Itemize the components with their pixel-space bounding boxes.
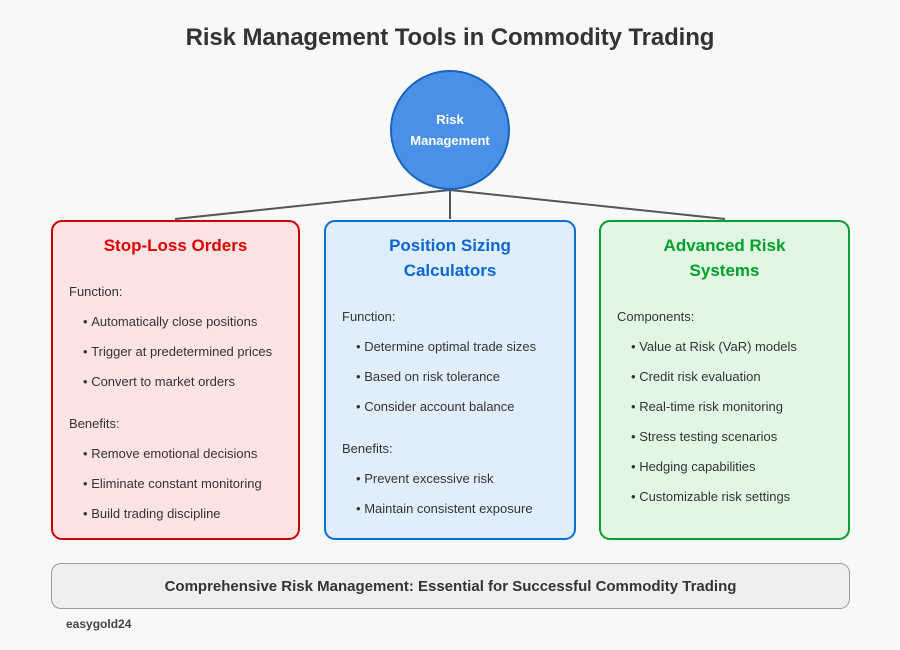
list-item-label: Determine optimal trade sizes (364, 339, 536, 354)
list-item-label: Real-time risk monitoring (639, 399, 783, 414)
card-title-line: Calculators (320, 258, 580, 283)
list-item-label: Remove emotional decisions (91, 446, 257, 461)
section-label-benefits: Benefits: (342, 434, 602, 464)
bullet-glyph: • (83, 446, 88, 461)
bullet-glyph: • (631, 489, 636, 504)
hub-label-line2: Management (410, 130, 489, 151)
bullet-glyph: • (631, 459, 636, 474)
list-item: • Maintain consistent exposure (342, 494, 602, 524)
list-item-label: Build trading discipline (91, 506, 220, 521)
bullet-glyph: • (356, 399, 361, 414)
bullet-glyph: • (631, 369, 636, 384)
bullet-glyph: • (356, 339, 361, 354)
card-title-position-sizing: Position Sizing Calculators (320, 233, 580, 283)
list-item-label: Automatically close positions (91, 314, 257, 329)
card-body-advanced-risk: Components: • Value at Risk (VaR) models… (617, 302, 877, 512)
list-item: • Remove emotional decisions (69, 439, 329, 469)
page-title: Risk Management Tools in Commodity Tradi… (0, 24, 900, 52)
list-item-label: Maintain consistent exposure (364, 501, 532, 516)
bullet-glyph: • (83, 476, 88, 491)
bullet-glyph: • (631, 339, 636, 354)
list-item: • Value at Risk (VaR) models (617, 332, 877, 362)
list-item-label: Prevent excessive risk (364, 471, 493, 486)
list-item-label: Trigger at predetermined prices (91, 344, 272, 359)
bullet-glyph: • (83, 344, 88, 359)
list-item-label: Credit risk evaluation (639, 369, 760, 384)
bullet-glyph: • (356, 369, 361, 384)
list-item: • Determine optimal trade sizes (342, 332, 602, 362)
watermark-easygold24: easygold24 (66, 617, 131, 631)
section-label-benefits: Benefits: (69, 409, 329, 439)
list-item: • Stress testing scenarios (617, 422, 877, 452)
bullet-glyph: • (83, 506, 88, 521)
connector-line-right (450, 190, 725, 219)
list-item: • Trigger at predetermined prices (69, 337, 329, 367)
hub-label-line1: Risk (436, 109, 463, 130)
list-item: • Real-time risk monitoring (617, 392, 877, 422)
section-label-components: Components: (617, 302, 877, 332)
card-title-line: Advanced Risk (595, 233, 854, 258)
bullet-glyph: • (83, 314, 88, 329)
list-item: • Based on risk tolerance (342, 362, 602, 392)
diagram-canvas: Risk Management Tools in Commodity Tradi… (0, 0, 900, 650)
card-title-stop-loss: Stop-Loss Orders (47, 233, 304, 258)
section-label-function: Function: (342, 302, 602, 332)
list-item: • Automatically close positions (69, 307, 329, 337)
card-advanced-risk-content: Advanced Risk Systems Components: • Valu… (601, 222, 848, 538)
card-position-sizing-content: Position Sizing Calculators Function: • … (326, 222, 574, 538)
hub-node-risk-management[interactable]: Risk Management (390, 70, 510, 190)
summary-banner[interactable]: Comprehensive Risk Management: Essential… (51, 563, 850, 609)
card-position-sizing-calculators[interactable]: Position Sizing Calculators Function: • … (324, 220, 576, 540)
list-item-label: Hedging capabilities (639, 459, 755, 474)
card-stop-loss-orders[interactable]: Stop-Loss Orders Function: • Automatical… (51, 220, 300, 540)
list-item: • Convert to market orders (69, 367, 329, 397)
card-title-line: Stop-Loss Orders (47, 233, 304, 258)
list-item: • Build trading discipline (69, 499, 329, 529)
list-item-label: Value at Risk (VaR) models (639, 339, 797, 354)
bullet-glyph: • (631, 399, 636, 414)
card-title-line: Position Sizing (320, 233, 580, 258)
list-item-label: Consider account balance (364, 399, 514, 414)
card-body-position-sizing: Function: • Determine optimal trade size… (342, 302, 602, 524)
section-label-function: Function: (69, 277, 329, 307)
bullet-glyph: • (356, 501, 361, 516)
bullet-glyph: • (356, 471, 361, 486)
list-item-label: Eliminate constant monitoring (91, 476, 262, 491)
card-title-line: Systems (595, 258, 854, 283)
list-item: • Eliminate constant monitoring (69, 469, 329, 499)
list-item: • Consider account balance (342, 392, 602, 422)
list-item: • Credit risk evaluation (617, 362, 877, 392)
summary-banner-label: Comprehensive Risk Management: Essential… (165, 578, 737, 595)
card-stop-loss-content: Stop-Loss Orders Function: • Automatical… (53, 222, 298, 538)
list-item-label: Convert to market orders (91, 374, 235, 389)
section-gap (69, 397, 329, 409)
list-item-label: Stress testing scenarios (639, 429, 777, 444)
card-body-stop-loss: Function: • Automatically close position… (69, 277, 329, 529)
list-item: • Prevent excessive risk (342, 464, 602, 494)
list-item-label: Customizable risk settings (639, 489, 790, 504)
bullet-glyph: • (631, 429, 636, 444)
list-item: • Hedging capabilities (617, 452, 877, 482)
card-advanced-risk-systems[interactable]: Advanced Risk Systems Components: • Valu… (599, 220, 850, 540)
section-gap (342, 422, 602, 434)
list-item-label: Based on risk tolerance (364, 369, 500, 384)
connector-line-left (175, 190, 450, 219)
list-item: • Customizable risk settings (617, 482, 877, 512)
card-title-advanced-risk: Advanced Risk Systems (595, 233, 854, 283)
bullet-glyph: • (83, 374, 88, 389)
